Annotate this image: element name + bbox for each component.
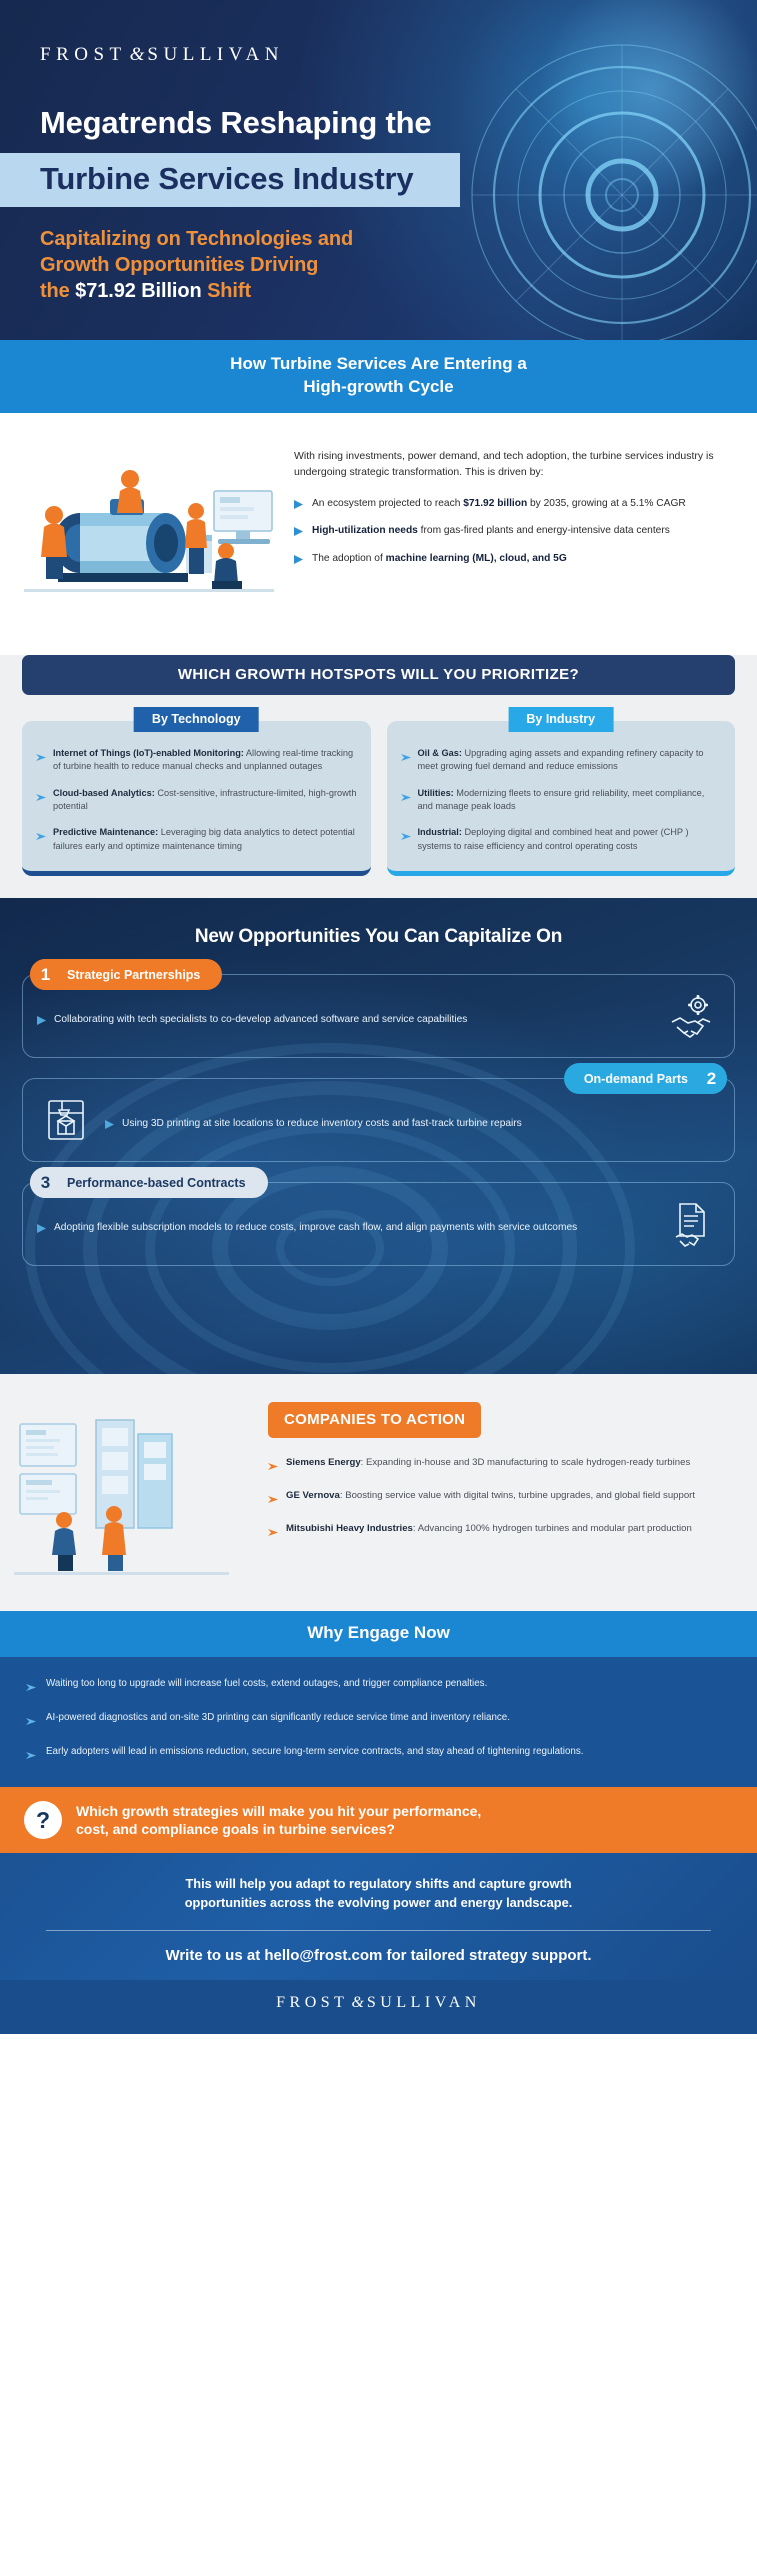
list-item: An ecosystem projected to reach $71.92 b… bbox=[294, 497, 731, 512]
list-item: AI-powered diagnostics and on-site 3D pr… bbox=[26, 1711, 731, 1731]
opportunity-2: 2 On-demand Parts bbox=[22, 1078, 735, 1162]
handshake-gear-icon bbox=[662, 991, 720, 1041]
why-engage-bullet: Early adopters will lead in emissions re… bbox=[46, 1745, 583, 1765]
growth-cycle-banner: How Turbine Services Are Entering a High… bbox=[0, 340, 757, 413]
final-question-text: Which growth strategies will make you hi… bbox=[76, 1802, 481, 1839]
hotspots-heading: WHICH GROWTH HOTSPOTS WILL YOU PRIORITIZ… bbox=[22, 655, 735, 695]
hotspot-tab-industry: By Industry bbox=[508, 707, 613, 732]
why-engage-bullet: AI-powered diagnostics and on-site 3D pr… bbox=[46, 1711, 510, 1731]
opportunity-3-text-wrap: Adopting flexible subscription models to… bbox=[37, 1213, 652, 1236]
intro-bullet-text: The adoption of machine learning (ML), c… bbox=[312, 552, 567, 567]
bullet-post: by 2035, growing at a 5.1% CAGR bbox=[527, 498, 686, 509]
engineers-screens-icon bbox=[10, 1396, 250, 1586]
intro-bullet-text: High-utilization needs from gas-fired pl… bbox=[312, 524, 670, 539]
infographic-page: FROST&SULLIVAN Megatrends Reshaping the … bbox=[0, 0, 757, 2034]
company-name: Mitsubishi Heavy Industries bbox=[286, 1523, 413, 1534]
final-question-line2: cost, and compliance goals in turbine se… bbox=[76, 1821, 395, 1837]
closing-divider bbox=[46, 1930, 711, 1931]
item-rest: Modernizing fleets to ensure grid reliab… bbox=[418, 788, 705, 811]
list-item: Early adopters will lead in emissions re… bbox=[26, 1745, 731, 1765]
arrow-bullet-icon bbox=[268, 1491, 278, 1509]
hotspots-columns: By Technology Internet of Things (IoT)-e… bbox=[0, 695, 757, 876]
list-item: GE Vernova: Boosting service value with … bbox=[268, 1489, 735, 1509]
arrow-bullet-icon bbox=[36, 789, 46, 814]
why-engage-section: Why Engage Now Waiting too long to upgra… bbox=[0, 1611, 757, 1787]
arrow-bullet-icon bbox=[36, 828, 46, 853]
control-room-illustration bbox=[10, 1396, 260, 1591]
hero-brand-logo: FROST&SULLIVAN bbox=[0, 44, 757, 66]
company-name: Siemens Energy bbox=[286, 1457, 361, 1468]
banner-line1: How Turbine Services Are Entering a bbox=[60, 353, 697, 375]
opportunity-3-number: 3 bbox=[30, 1167, 61, 1198]
list-item: Internet of Things (IoT)-enabled Monitor… bbox=[36, 747, 357, 774]
footer-brand-logo: FROST&SULLIVAN bbox=[0, 1980, 757, 2034]
company-detail: : Boosting service value with digital tw… bbox=[340, 1490, 695, 1501]
item-bold: Cloud-based Analytics: bbox=[53, 788, 155, 798]
bullet-bold: $71.92 billion bbox=[463, 498, 527, 509]
arrow-bullet-icon bbox=[268, 1524, 278, 1542]
item-bold: Utilities: bbox=[418, 788, 454, 798]
opportunity-1-description: Collaborating with tech specialists to c… bbox=[54, 1013, 467, 1028]
final-question-line1: Which growth strategies will make you hi… bbox=[76, 1803, 481, 1819]
triangle-bullet-icon bbox=[105, 1120, 114, 1132]
brand-name-first: FROST bbox=[40, 44, 127, 65]
opportunity-3-label: Performance-based Contracts bbox=[61, 1176, 254, 1190]
hotspot-item-text: Internet of Things (IoT)-enabled Monitor… bbox=[53, 747, 357, 774]
company-item-text: Siemens Energy: Expanding in-house and 3… bbox=[286, 1456, 690, 1476]
triangle-bullet-icon bbox=[294, 500, 303, 512]
turbine-workers-illustration bbox=[18, 439, 288, 629]
closing-cta: Write to us at hello@frost.com for tailo… bbox=[40, 1947, 717, 1970]
hero-subtitle-line3: the $71.92 Billion Shift bbox=[40, 279, 717, 305]
footer-brand-second: SULLIVAN bbox=[367, 1994, 481, 2011]
list-item: The adoption of machine learning (ML), c… bbox=[294, 552, 731, 567]
hero-subtitle-post: Shift bbox=[202, 280, 251, 302]
footer-brand-first: FROST bbox=[276, 1994, 348, 2011]
contract-handshake-icon bbox=[662, 1199, 720, 1249]
intro-bullet-text: An ecosystem projected to reach $71.92 b… bbox=[312, 497, 686, 512]
item-bold: Internet of Things (IoT)-enabled Monitor… bbox=[53, 748, 244, 758]
hotspot-item-text: Utilities: Modernizing fleets to ensure … bbox=[418, 787, 722, 814]
opportunities-inner: New Opportunities You Can Capitalize On … bbox=[0, 926, 757, 1308]
hero-subtitle-line1: Capitalizing on Technologies and bbox=[40, 227, 717, 253]
footer-brand-ampersand: & bbox=[348, 1994, 366, 2011]
triangle-bullet-icon bbox=[294, 555, 303, 567]
hero-title-line2: Turbine Services Industry bbox=[0, 153, 460, 208]
hotspot-item-text: Industrial: Deploying digital and combin… bbox=[418, 826, 722, 853]
company-detail: : Advancing 100% hydrogen turbines and m… bbox=[413, 1523, 692, 1534]
triangle-bullet-icon bbox=[37, 1016, 46, 1028]
triangle-bullet-icon bbox=[37, 1224, 46, 1236]
hero-subtitle-pre: the bbox=[40, 280, 75, 302]
opportunity-2-label: On-demand Parts bbox=[578, 1072, 696, 1086]
intro-copy: With rising investments, power demand, a… bbox=[294, 439, 731, 629]
why-engage-body: Waiting too long to upgrade will increas… bbox=[0, 1657, 757, 1787]
arrow-bullet-icon bbox=[26, 1747, 36, 1765]
opportunity-3: 3 Performance-based Contracts Adopting f… bbox=[22, 1182, 735, 1266]
opportunity-2-description: Using 3D printing at site locations to r… bbox=[122, 1117, 522, 1132]
hero-market-value: $71.92 Billion bbox=[75, 280, 201, 302]
opportunity-2-pill: 2 On-demand Parts bbox=[564, 1063, 727, 1094]
arrow-bullet-icon bbox=[26, 1713, 36, 1731]
list-item: Cloud-based Analytics: Cost-sensitive, i… bbox=[36, 787, 357, 814]
growth-hotspots-section: WHICH GROWTH HOTSPOTS WILL YOU PRIORITIZ… bbox=[0, 655, 757, 898]
intro-lead-text: With rising investments, power demand, a… bbox=[294, 449, 731, 481]
turbine-factory-icon bbox=[18, 439, 288, 624]
list-item: Mitsubishi Heavy Industries: Advancing 1… bbox=[268, 1522, 735, 1542]
list-item: Utilities: Modernizing fleets to ensure … bbox=[401, 787, 722, 814]
opportunity-3-pill: 3 Performance-based Contracts bbox=[30, 1167, 268, 1198]
arrow-bullet-icon bbox=[268, 1458, 278, 1476]
item-bold: Industrial: bbox=[418, 827, 462, 837]
closing-lead: This will help you adapt to regulatory s… bbox=[40, 1875, 717, 1912]
3d-printer-icon bbox=[37, 1095, 95, 1145]
hotspot-item-text: Predictive Maintenance: Leveraging big d… bbox=[53, 826, 357, 853]
hotspot-tab-technology: By Technology bbox=[134, 707, 259, 732]
final-question-bar: ? Which growth strategies will make you … bbox=[0, 1787, 757, 1853]
intro-section: With rising investments, power demand, a… bbox=[0, 413, 757, 655]
hero-subtitle: Capitalizing on Technologies and Growth … bbox=[0, 207, 757, 340]
hotspot-item-text: Oil & Gas: Upgrading aging assets and ex… bbox=[418, 747, 722, 774]
list-item: Industrial: Deploying digital and combin… bbox=[401, 826, 722, 853]
opportunity-1-label: Strategic Partnerships bbox=[61, 968, 208, 982]
opportunities-section: New Opportunities You Can Capitalize On … bbox=[0, 898, 757, 1374]
hero-subtitle-line2: Growth Opportunities Driving bbox=[40, 253, 717, 279]
arrow-bullet-icon bbox=[26, 1679, 36, 1697]
opportunity-1-pill: 1 Strategic Partnerships bbox=[30, 959, 222, 990]
arrow-bullet-icon bbox=[36, 749, 46, 774]
bullet-pre: The adoption of bbox=[312, 553, 386, 564]
bullet-post: from gas-fired plants and energy-intensi… bbox=[418, 525, 670, 536]
arrow-bullet-icon bbox=[401, 828, 411, 853]
why-engage-heading: Why Engage Now bbox=[0, 1611, 757, 1657]
item-bold: Oil & Gas: bbox=[418, 748, 462, 758]
arrow-bullet-icon bbox=[401, 749, 411, 774]
intro-bullet-list: An ecosystem projected to reach $71.92 b… bbox=[294, 497, 731, 567]
opportunity-1-number: 1 bbox=[30, 959, 61, 990]
bullet-bold: High-utilization needs bbox=[312, 525, 418, 536]
bullet-bold: machine learning (ML), cloud, and 5G bbox=[386, 553, 567, 564]
item-bold: Predictive Maintenance: bbox=[53, 827, 158, 837]
list-item: Siemens Energy: Expanding in-house and 3… bbox=[268, 1456, 735, 1476]
company-item-text: GE Vernova: Boosting service value with … bbox=[286, 1489, 695, 1509]
company-name: GE Vernova bbox=[286, 1490, 340, 1501]
hotspot-item-text: Cloud-based Analytics: Cost-sensitive, i… bbox=[53, 787, 357, 814]
why-engage-bullet: Waiting too long to upgrade will increas… bbox=[46, 1677, 487, 1697]
closing-lead-line2: opportunities across the evolving power … bbox=[40, 1894, 717, 1913]
bullet-pre: An ecosystem projected to reach bbox=[312, 498, 463, 509]
closing-lead-line1: This will help you adapt to regulatory s… bbox=[40, 1875, 717, 1894]
opportunity-2-number: 2 bbox=[696, 1063, 727, 1094]
opportunity-1-text-wrap: Collaborating with tech specialists to c… bbox=[37, 1005, 652, 1028]
companies-copy: COMPANIES TO ACTION Siemens Energy: Expa… bbox=[268, 1396, 735, 1591]
question-mark-icon: ? bbox=[24, 1801, 62, 1839]
list-item: Predictive Maintenance: Leveraging big d… bbox=[36, 826, 357, 853]
opportunity-1: 1 Strategic Partnerships Collaborating w… bbox=[22, 974, 735, 1058]
list-item: Oil & Gas: Upgrading aging assets and ex… bbox=[401, 747, 722, 774]
companies-heading: COMPANIES TO ACTION bbox=[268, 1402, 481, 1438]
arrow-bullet-icon bbox=[401, 789, 411, 814]
brand-ampersand: & bbox=[127, 44, 148, 65]
hotspot-card-technology: By Technology Internet of Things (IoT)-e… bbox=[22, 721, 371, 876]
hotspot-card-industry: By Industry Oil & Gas: Upgrading aging a… bbox=[387, 721, 736, 876]
companies-section: COMPANIES TO ACTION Siemens Energy: Expa… bbox=[0, 1374, 757, 1611]
closing-section: This will help you adapt to regulatory s… bbox=[0, 1853, 757, 1980]
company-item-text: Mitsubishi Heavy Industries: Advancing 1… bbox=[286, 1522, 692, 1542]
list-item: Waiting too long to upgrade will increas… bbox=[26, 1677, 731, 1697]
list-item: High-utilization needs from gas-fired pl… bbox=[294, 524, 731, 539]
banner-line2: High-growth Cycle bbox=[60, 376, 697, 398]
opportunity-2-text-wrap: Using 3D printing at site locations to r… bbox=[105, 1109, 720, 1132]
opportunity-3-description: Adopting flexible subscription models to… bbox=[54, 1221, 577, 1236]
hero-section: FROST&SULLIVAN Megatrends Reshaping the … bbox=[0, 0, 757, 340]
triangle-bullet-icon bbox=[294, 527, 303, 539]
company-detail: : Expanding in-house and 3D manufacturin… bbox=[361, 1457, 691, 1468]
hero-title-line1: Megatrends Reshaping the bbox=[0, 106, 757, 153]
brand-name-second: SULLIVAN bbox=[147, 44, 284, 65]
